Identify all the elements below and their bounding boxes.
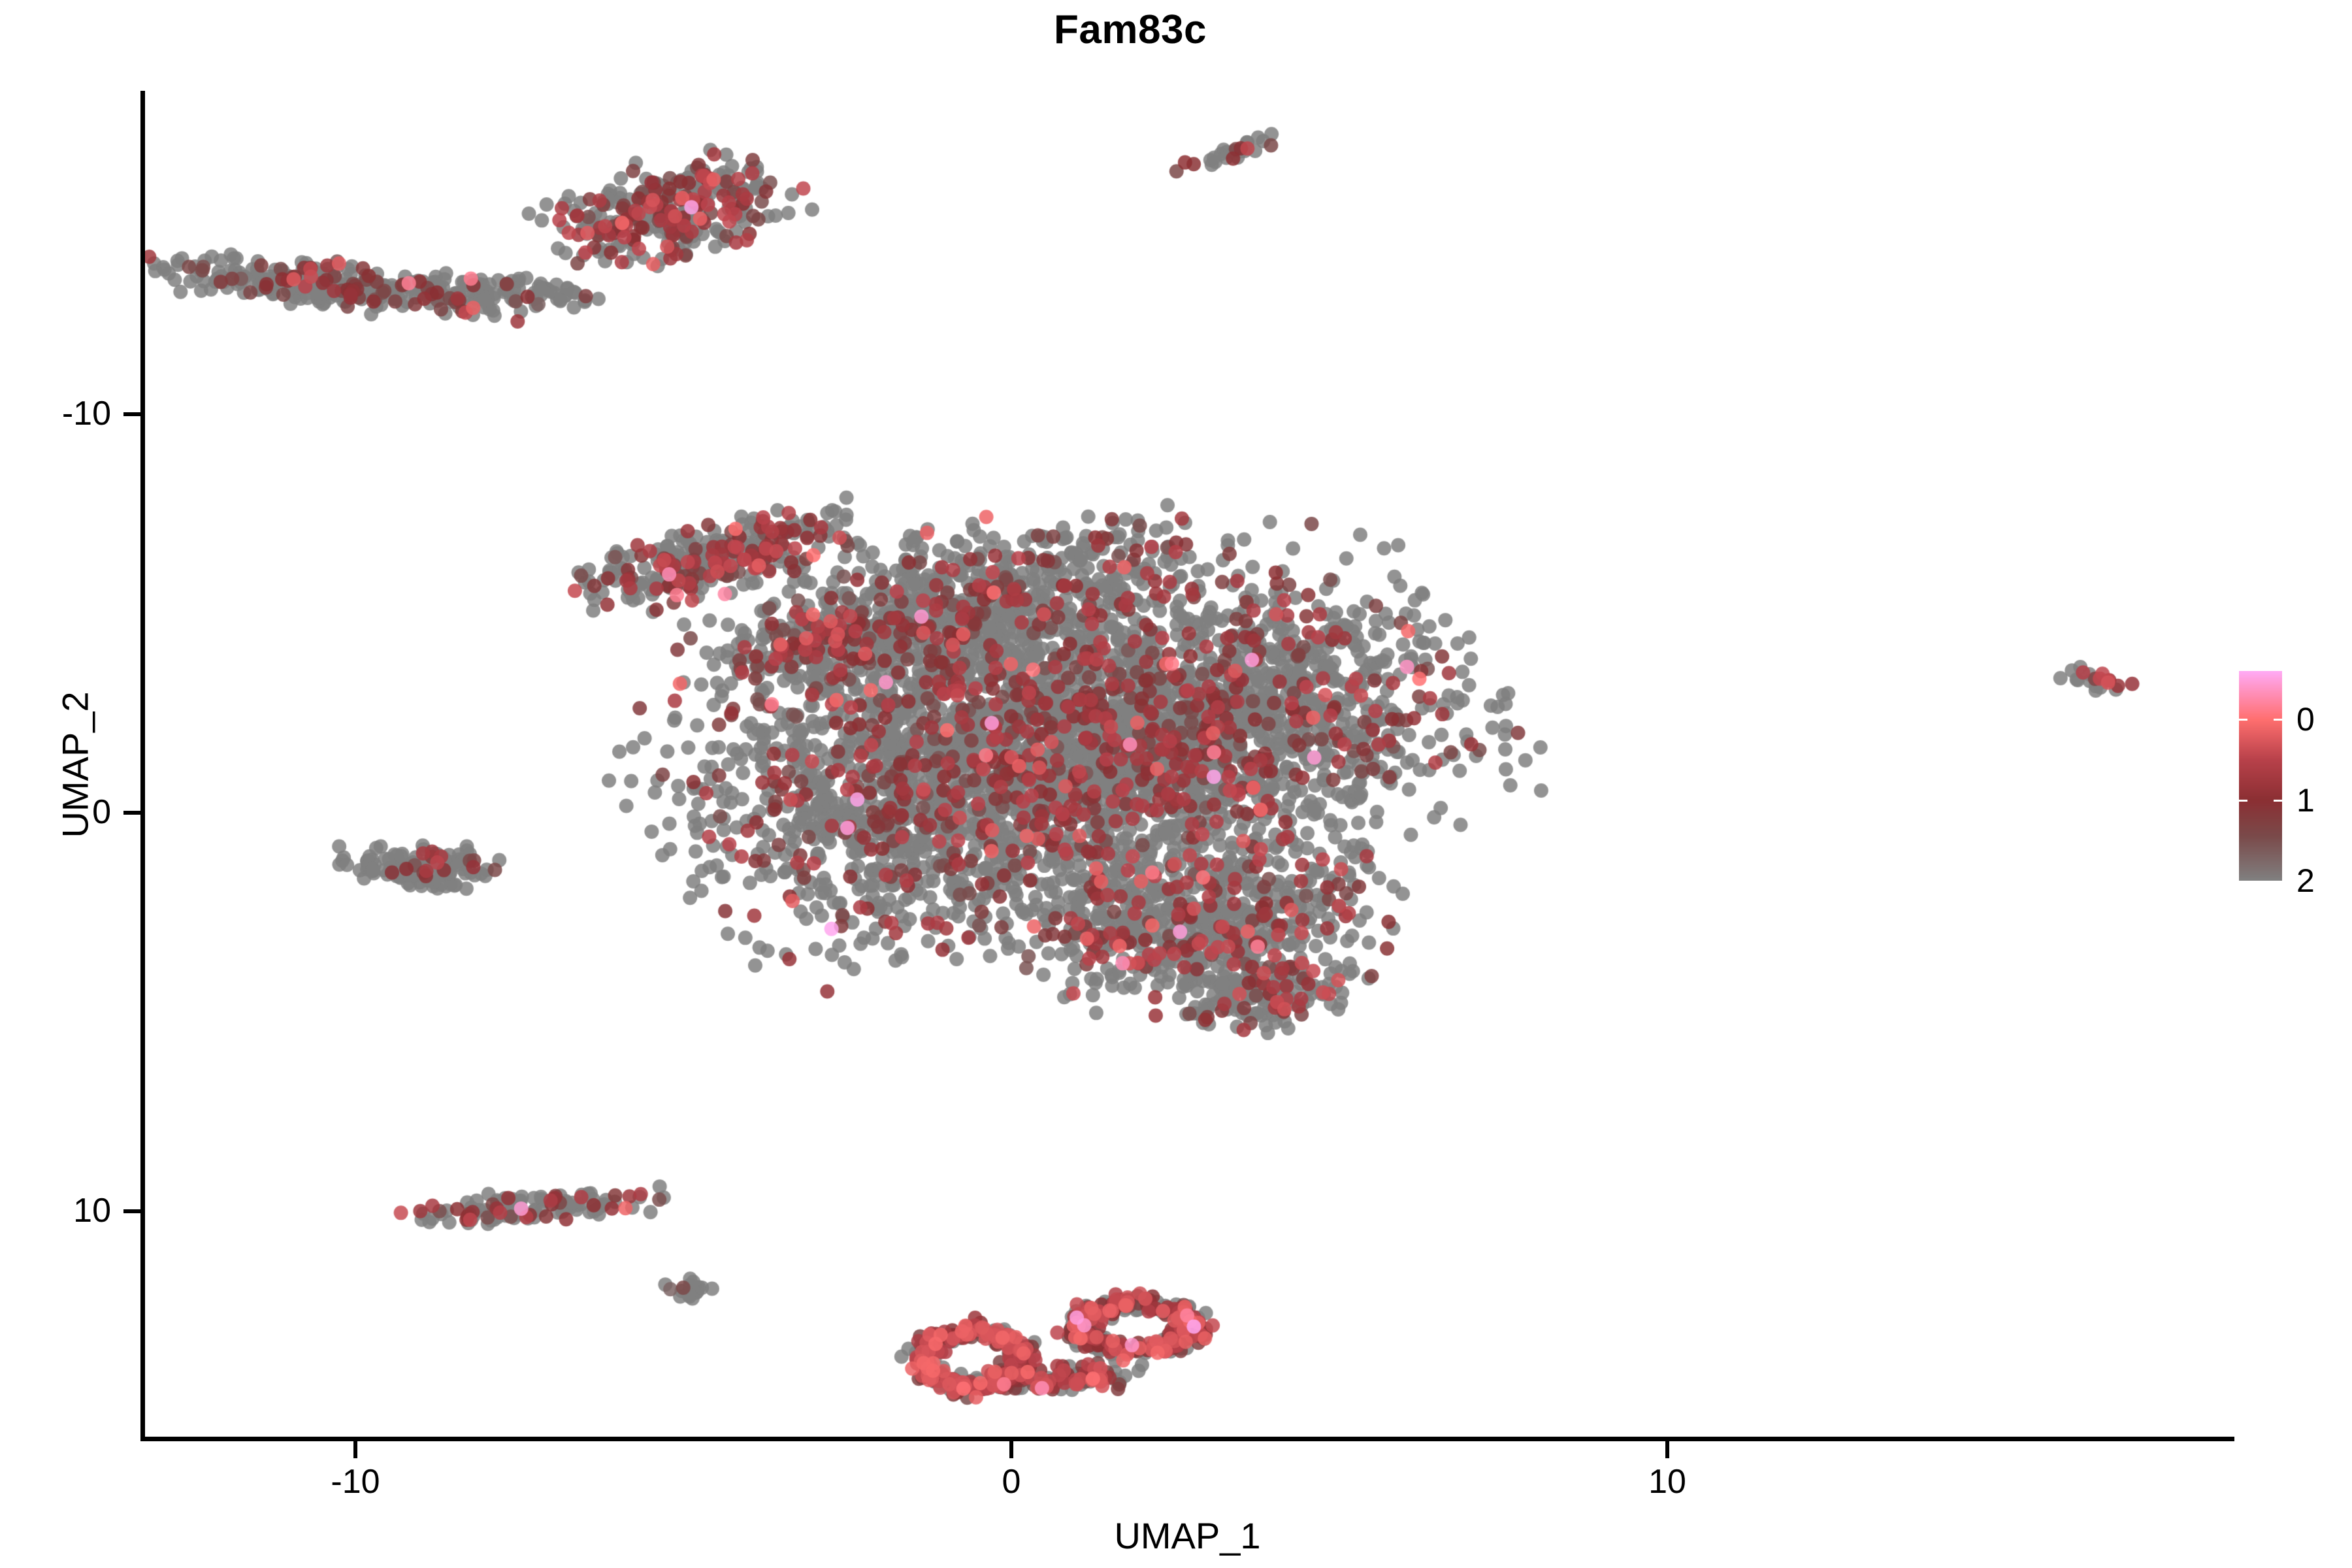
scatter-points-canvas <box>144 91 2234 1439</box>
x-tick-mark <box>1009 1441 1013 1458</box>
x-tick-label: 0 <box>933 1465 1090 1499</box>
umap-feature-plot: Fam83c 100-10 -10010 UMAP_1 UMAP_2 210 <box>0 0 2352 1568</box>
color-legend: 210 <box>2239 671 2344 887</box>
x-axis-title: UMAP_1 <box>140 1514 2234 1557</box>
y-tick-mark <box>123 811 140 815</box>
legend-tick-label: 0 <box>2296 703 2315 736</box>
plot-panel <box>144 91 2234 1439</box>
x-tick-label: 10 <box>1589 1465 1746 1499</box>
y-axis-title-wrap: UMAP_2 <box>54 92 97 1438</box>
legend-tick-label: 1 <box>2296 784 2315 817</box>
legend-tick-label: 2 <box>2296 864 2315 897</box>
y-tick-mark <box>123 1209 140 1213</box>
legend-colorbar <box>2239 671 2282 881</box>
x-tick-label: -10 <box>277 1465 434 1499</box>
y-axis-line <box>140 91 145 1441</box>
page-title: Fam83c <box>0 7 2261 53</box>
x-tick-mark <box>353 1441 357 1458</box>
x-axis-line <box>140 1437 2234 1441</box>
x-tick-mark <box>1665 1441 1669 1458</box>
y-tick-mark <box>123 412 140 416</box>
y-axis-title: UMAP_2 <box>55 691 96 838</box>
